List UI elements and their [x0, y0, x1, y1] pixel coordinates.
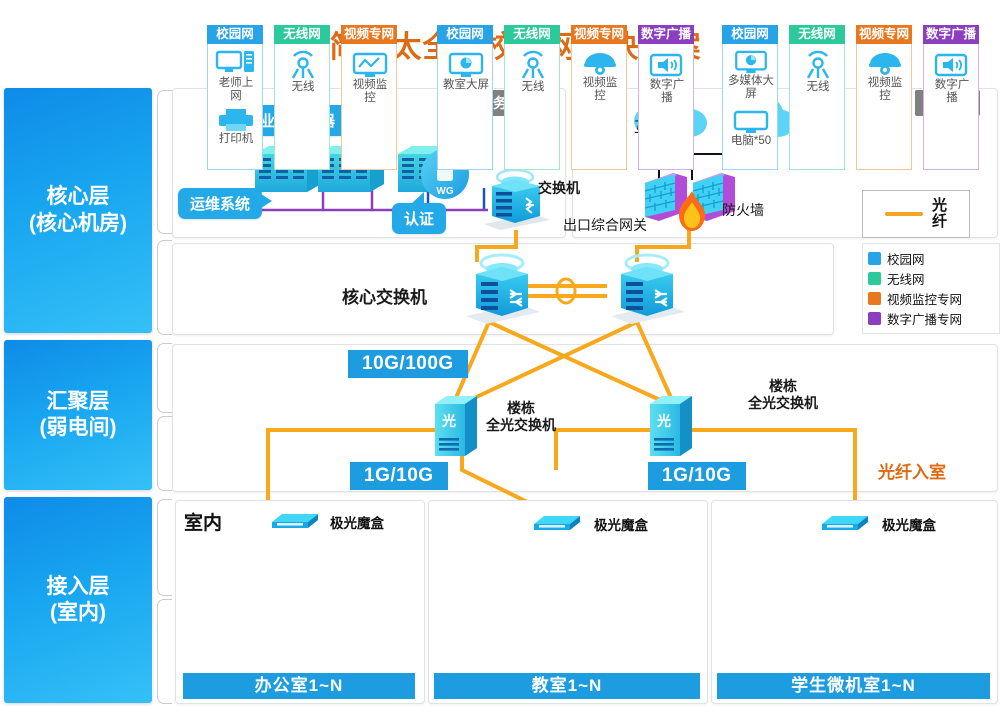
- building-switch-right-line1: 楼栋: [748, 378, 818, 395]
- category-column-video-office: 视频专网 视频监控: [341, 44, 397, 170]
- item-teacher-pc-label: 老师上网: [208, 77, 264, 103]
- bubble-auth: 认证: [392, 203, 446, 234]
- brace-agg-bot: [157, 416, 172, 491]
- printer-icon: [217, 108, 255, 132]
- item-wireless-classroom-label: 无线: [505, 81, 561, 94]
- layer-core-line2: (核心机房): [29, 211, 127, 237]
- item-class-screen: 教室大屏: [438, 52, 494, 92]
- wifi-antenna-icon: [285, 52, 321, 80]
- layer-acc-line2: (室内): [47, 600, 110, 626]
- exit-gateway-label: 出口综合网关: [563, 215, 647, 235]
- brace-agg-top: [157, 343, 172, 413]
- brace-core-bot: [157, 240, 172, 335]
- fiber-legend: 光 纤: [862, 190, 970, 238]
- layer-core-line1: 核心层: [29, 184, 127, 210]
- speaker-icon: [934, 52, 970, 78]
- item-video-classroom: 视频监控: [572, 52, 628, 103]
- category-head-campus-lab: 校园网: [722, 25, 778, 44]
- magic-box-icon-classroom: [530, 510, 584, 534]
- layer-acc-line1: 接入层: [47, 574, 110, 600]
- item-video-lab: 视频监控: [857, 52, 913, 103]
- category-head-campus-office: 校园网: [207, 25, 263, 44]
- category-head-wireless-office: 无线网: [274, 25, 330, 44]
- building-switch-icon-right: 光: [650, 394, 692, 456]
- diagram-canvas: 极简以太全光校园网解决方案 核心层 (核心机房) 汇聚层 (弱电间) 接入层 (…: [0, 0, 1000, 706]
- item-printer: 打印机: [208, 108, 264, 146]
- category-head-video-lab: 视频专网: [856, 25, 912, 44]
- brace-core-top: [157, 90, 172, 234]
- category-column-campus-classroom: 校园网 教室大屏: [437, 44, 493, 170]
- fiber-to-room-label: 光纤入室: [878, 458, 946, 483]
- item-multimedia-screen-label: 多媒体大屏: [723, 75, 779, 101]
- category-column-broadcast-classroom: 数字广播 数字广播: [638, 44, 694, 170]
- building-switch-left-line1: 楼栋: [486, 400, 556, 417]
- magic-box-label-lab: 极光魔盒: [882, 514, 936, 534]
- core-switch-label: 核心交换机: [342, 283, 427, 308]
- building-switch-left-line2: 全光交换机: [486, 417, 556, 434]
- item-wireless-classroom: 无线: [505, 52, 561, 94]
- core-switch-icon-right: [607, 252, 687, 332]
- category-column-wireless-classroom: 无线网 无线: [504, 44, 560, 170]
- flame-icon: [676, 190, 708, 236]
- category-column-wireless-office: 无线网 无线: [274, 44, 330, 170]
- building-switch-label-right: 楼栋 全光交换机: [748, 378, 818, 411]
- item-broadcast-classroom-label: 数字广播: [639, 79, 695, 105]
- chip-left-speed: 1G/10G: [350, 462, 448, 490]
- server-switch-label: 交换机: [538, 178, 580, 198]
- legend-row-video: 视频监控专网: [868, 289, 994, 308]
- speaker-icon: [649, 52, 685, 78]
- layer-agg-line1: 汇聚层: [40, 389, 117, 415]
- category-column-video-classroom: 视频专网 视频监控: [571, 44, 627, 170]
- item-wireless-office-label: 无线: [275, 81, 331, 94]
- building-switch-right-line2: 全光交换机: [748, 395, 818, 412]
- legend-label-broadcast: 数字广播专网: [887, 309, 962, 328]
- wg-text: WG: [436, 186, 453, 197]
- panel-aggregation-zone: [172, 344, 998, 492]
- chip-right-speed: 1G/10G: [648, 462, 746, 490]
- magic-box-label-classroom: 极光魔盒: [594, 514, 648, 534]
- magic-box-label-office: 极光魔盒: [330, 512, 384, 532]
- category-head-wireless-classroom: 无线网: [504, 25, 560, 44]
- chip-backbone-speed: 10G/100G: [348, 350, 468, 378]
- bubble-ops-system: 运维系统: [178, 188, 262, 219]
- category-column-campus-lab: 校园网 多媒体大屏 电脑*50: [722, 44, 778, 170]
- magic-box-icon-lab: [818, 510, 872, 534]
- layer-tile-access: 接入层 (室内): [4, 497, 152, 703]
- legend-row-broadcast: 数字广播专网: [868, 309, 994, 328]
- item-video-classroom-label: 视频监控: [572, 77, 628, 103]
- legend-label-campus: 校园网: [887, 249, 925, 268]
- legend-swatch-video: [868, 292, 881, 305]
- category-head-campus-classroom: 校园网: [437, 25, 493, 44]
- item-computers: 电脑*50: [723, 110, 779, 148]
- room-footer-classroom: 教室1~N: [434, 673, 700, 699]
- fiber-legend-line: [885, 212, 923, 216]
- legend-swatch-wireless: [868, 272, 881, 285]
- screen-icon: [448, 52, 484, 78]
- indoor-title: 室内: [184, 508, 222, 535]
- fiber-legend-label-1: 光: [932, 198, 947, 214]
- legend-label-wireless: 无线网: [887, 269, 925, 288]
- category-head-wireless-lab: 无线网: [789, 25, 845, 44]
- building-switch-label-left: 楼栋 全光交换机: [486, 400, 556, 433]
- category-column-wireless-lab: 无线网 无线: [789, 44, 845, 170]
- category-column-broadcast-lab: 数字广播 数字广播: [923, 44, 979, 170]
- room-footer-office: 办公室1~N: [183, 673, 415, 699]
- category-head-video-classroom: 视频专网: [571, 25, 627, 44]
- firewall-label: 防火墙: [722, 200, 764, 220]
- legend-row-wireless: 无线网: [868, 269, 994, 288]
- item-printer-label: 打印机: [208, 133, 264, 146]
- room-footer-lab: 学生微机室1~N: [717, 673, 990, 699]
- item-wireless-lab: 无线: [790, 52, 846, 94]
- building-switch-icon-left: 光: [435, 394, 477, 456]
- item-video-lab-label: 视频监控: [857, 77, 913, 103]
- legend-swatch-broadcast: [868, 312, 881, 325]
- monitor-icon: [733, 110, 769, 134]
- category-head-broadcast-classroom: 数字广播: [638, 25, 694, 44]
- item-broadcast-lab-label: 数字广播: [924, 79, 980, 105]
- item-class-screen-label: 教室大屏: [438, 79, 494, 92]
- svg-text:光: 光: [441, 413, 456, 430]
- dome-camera-icon: [581, 52, 619, 76]
- screen-icon: [733, 50, 769, 74]
- wifi-antenna-icon: [800, 52, 836, 80]
- category-head-video-office: 视频专网: [341, 25, 397, 44]
- legend-swatch-campus: [868, 252, 881, 265]
- wifi-antenna-icon: [515, 52, 551, 80]
- legend-row-campus: 校园网: [868, 249, 994, 268]
- item-broadcast-lab: 数字广播: [924, 52, 980, 105]
- item-video-office-label: 视频监控: [342, 79, 398, 105]
- page-title: 极简以太全光校园网解决方案: [0, 22, 1000, 66]
- item-multimedia-screen: 多媒体大屏: [723, 50, 779, 101]
- layer-agg-line2: (弱电间): [40, 415, 117, 441]
- item-broadcast-classroom: 数字广播: [639, 52, 695, 105]
- desktop-pc-icon: [216, 50, 256, 76]
- video-monitor-icon: [352, 52, 388, 78]
- category-column-campus-office: 校园网 老师上网 打印机: [207, 44, 263, 170]
- item-computers-label: 电脑*50: [723, 135, 779, 148]
- category-head-broadcast-lab: 数字广播: [923, 25, 979, 44]
- svg-text:光: 光: [656, 413, 671, 430]
- item-wireless-office: 无线: [275, 52, 331, 94]
- item-video-office: 视频监控: [342, 52, 398, 105]
- brace-acc-bot: [157, 599, 172, 704]
- fiber-legend-label-2: 纤: [932, 214, 947, 230]
- item-teacher-pc: 老师上网: [208, 50, 264, 103]
- legend-label-video: 视频监控专网: [887, 289, 962, 308]
- layer-tile-core: 核心层 (核心机房): [4, 88, 152, 333]
- layer-tile-aggregation: 汇聚层 (弱电间): [4, 340, 152, 490]
- item-wireless-lab-label: 无线: [790, 81, 846, 94]
- brace-acc-top: [157, 499, 172, 596]
- magic-box-icon-office: [268, 508, 322, 532]
- core-switch-icon-left: [462, 252, 542, 332]
- category-column-video-lab: 视频专网 视频监控: [856, 44, 912, 170]
- dome-camera-icon: [866, 52, 904, 76]
- network-legend: 校园网 无线网 视频监控专网 数字广播专网: [862, 243, 1000, 334]
